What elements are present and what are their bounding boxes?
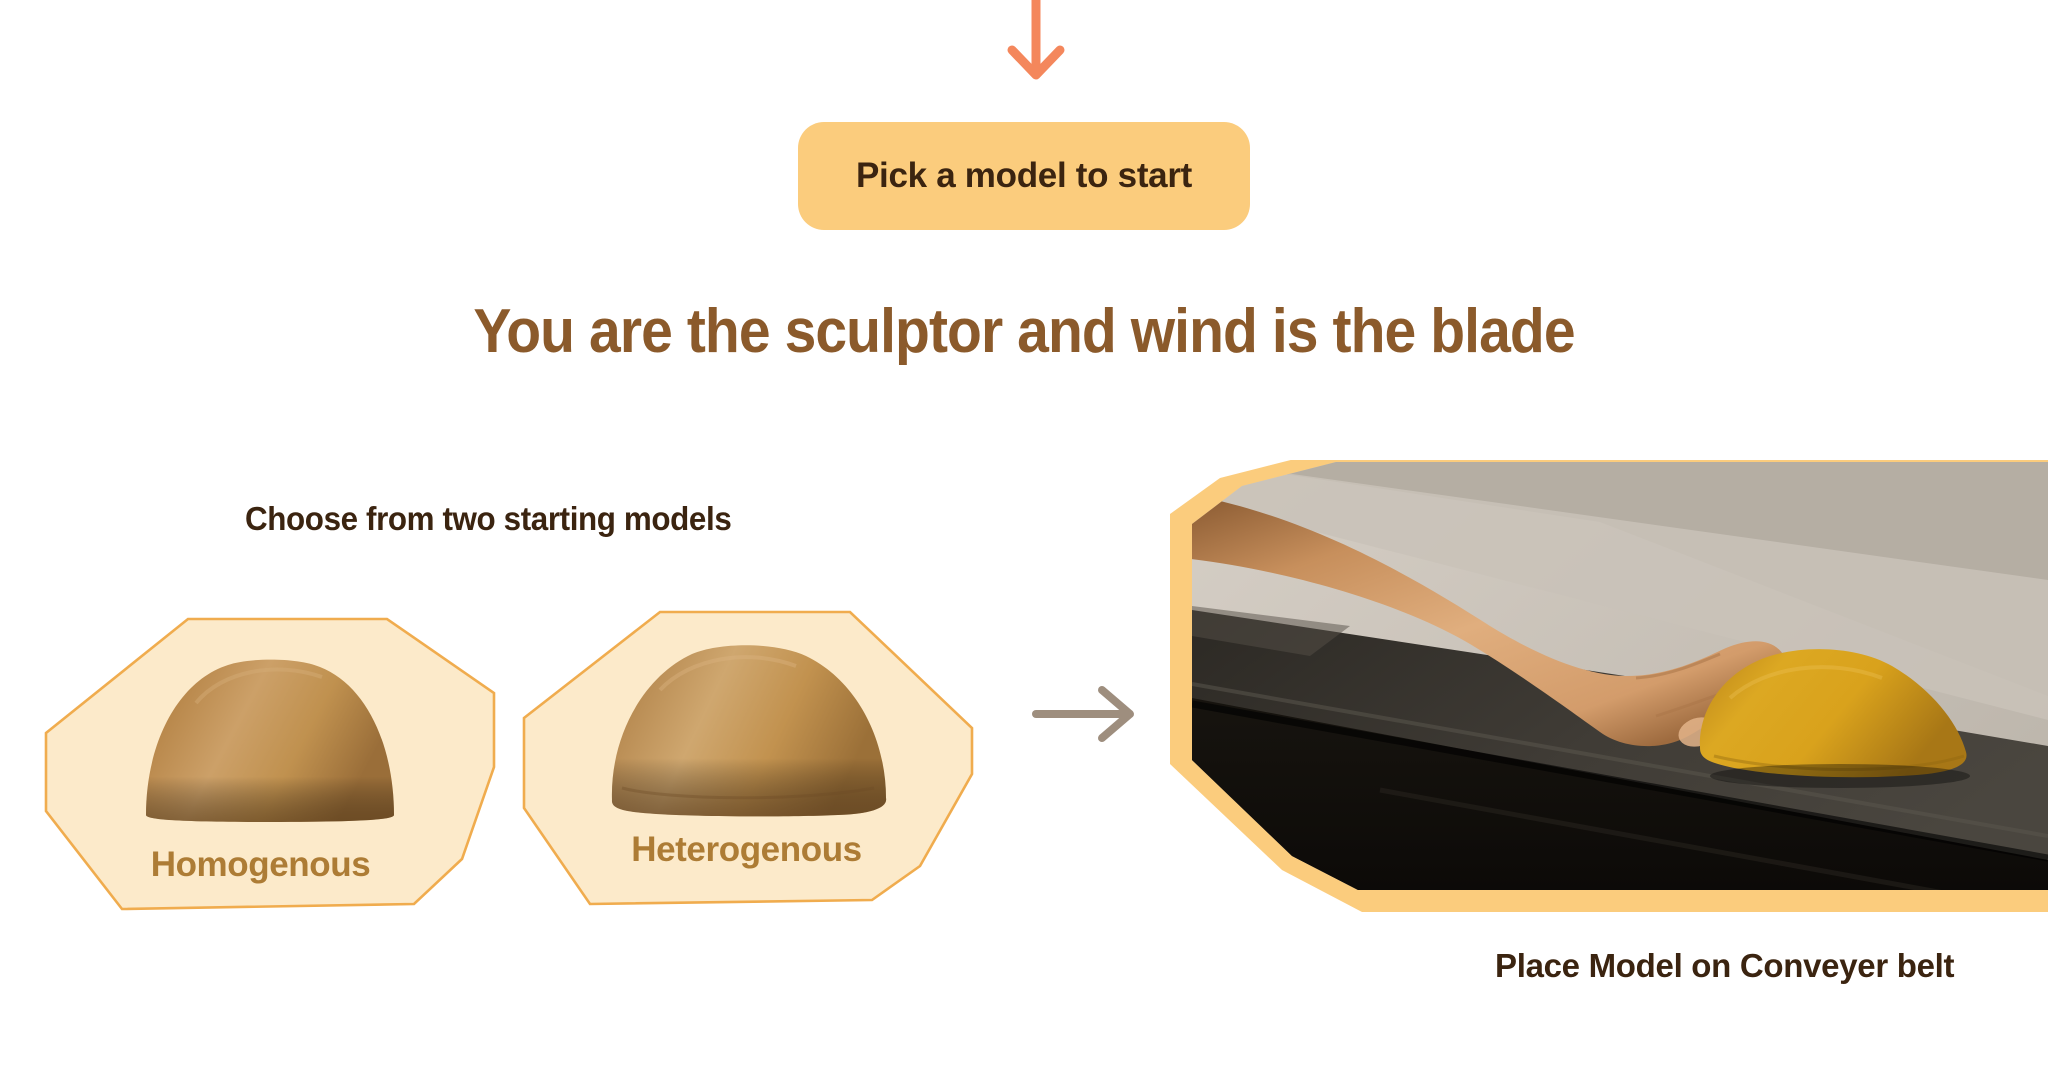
slide-root: Pick a model to start You are the sculpt… [0,0,2048,1076]
model-card-heterogenous[interactable]: Heterogenous [520,608,975,908]
model-card-homogenous[interactable]: Homogenous [42,615,497,915]
page-title: You are the sculptor and wind is the bla… [82,296,1966,367]
arrow-right-icon [1032,682,1138,746]
pick-a-model-button[interactable]: Pick a model to start [798,122,1250,230]
clay-dome-heterogenous-icon [598,638,898,818]
clay-dome-homogenous-icon [136,647,404,822]
arrow-down-icon [1000,0,1072,86]
choose-models-label: Choose from two starting models [245,500,731,538]
conveyer-belt-photo [1170,460,2048,912]
photo-caption: Place Model on Conveyer belt [1495,947,1954,985]
photo-content [1170,460,2048,912]
photo-frame-and-image [1170,460,2048,912]
